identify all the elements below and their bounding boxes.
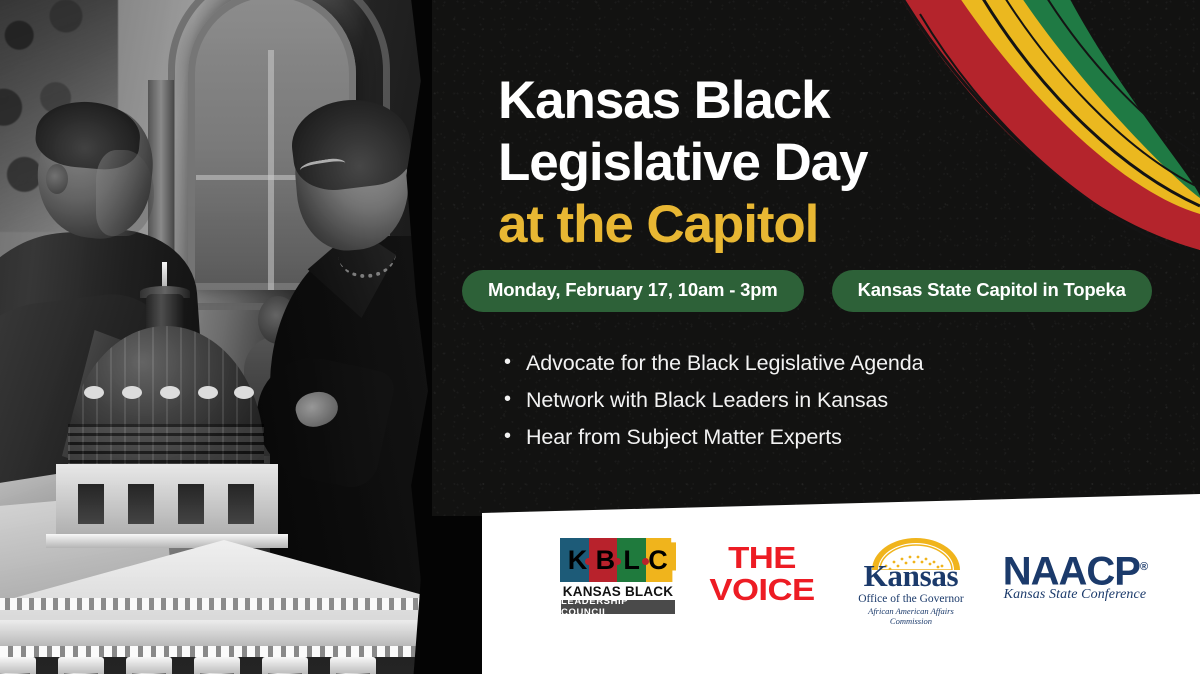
logo-kansas-office-of-the-governor: Kansas Office of the Governor African Am…	[848, 536, 965, 618]
event-promo-poster: Kansas Black Legislative Day at the Capi…	[0, 0, 1200, 674]
dome-oculus	[122, 386, 142, 399]
headline-line-2: Legislative Day	[498, 133, 867, 192]
dome-oculus	[198, 386, 218, 399]
drum-window	[228, 484, 254, 524]
list-item: Network with Black Leaders in Kansas	[502, 382, 1142, 419]
logo-naacp: NAACP® Kansas State Conference	[999, 546, 1140, 608]
pill-date-time: Monday, February 17, 10am - 3pm	[462, 270, 804, 312]
column-capital	[330, 657, 376, 674]
kansas-commission-line: African American Affairs Commission	[848, 606, 974, 626]
dome-drum	[56, 464, 278, 542]
dome-oculus-windows	[78, 386, 254, 406]
naacp-registered-mark: ®	[1140, 561, 1147, 573]
pediment-dentil-course	[0, 598, 474, 610]
column-capital	[126, 657, 172, 674]
naacp-wordmark: NAACP®	[999, 546, 1151, 592]
kblc-letter-l: L	[623, 545, 640, 576]
dome-oculus	[84, 386, 104, 399]
entablature-dentil-course	[0, 646, 474, 657]
column-capital	[0, 657, 36, 674]
kblc-name-line-2: LEADERSHIP COUNCIL	[561, 600, 675, 614]
kblc-letter-b: B	[596, 545, 616, 576]
column-capital	[262, 657, 308, 674]
sponsor-logo-row: K B L C KANSAS BLACK LEADERSHIP COUNCIL …	[560, 533, 1140, 621]
window-mullion-vertical	[268, 50, 274, 290]
headline-accent: at the Capitol	[498, 194, 1188, 256]
poster-content: Kansas Black Legislative Day at the Capi…	[498, 0, 1188, 516]
kansas-office-line: Office of the Governor	[848, 593, 974, 605]
voice-line-1: THE	[704, 542, 820, 574]
left-person-face-highlight	[96, 150, 154, 236]
kblc-letter-c: C	[648, 545, 668, 576]
column-capital	[194, 657, 240, 674]
dome-bands	[68, 424, 264, 468]
pill-location: Kansas State Capitol in Topeka	[832, 270, 1152, 312]
capitol-photo-composite	[0, 0, 500, 674]
drum-window	[128, 484, 154, 524]
drum-cornice	[46, 534, 288, 548]
naacp-subtitle: Kansas State Conference	[999, 587, 1151, 603]
event-bullet-list: Advocate for the Black Legislative Agend…	[502, 345, 1142, 456]
drum-window	[178, 484, 204, 524]
kansas-wordmark: Kansas	[848, 558, 974, 594]
dome-oculus	[160, 386, 180, 399]
drum-window	[78, 484, 104, 524]
page-title: Kansas Black Legislative Day at the Capi…	[498, 70, 1188, 256]
headline-line-1: Kansas Black	[498, 71, 830, 130]
logo-the-voice: THE VOICE	[710, 542, 814, 612]
event-detail-pills: Monday, February 17, 10am - 3pm Kansas S…	[462, 270, 1152, 312]
list-item: Advocate for the Black Legislative Agend…	[502, 345, 1142, 382]
left-person-ear	[46, 164, 68, 194]
kblc-letter-k: K	[568, 545, 588, 576]
kblc-letters: K B L C	[560, 538, 676, 582]
voice-line-2: VOICE	[704, 574, 820, 606]
list-item: Hear from Subject Matter Experts	[502, 419, 1142, 456]
portico-colonnade	[0, 657, 474, 674]
column-capital	[58, 657, 104, 674]
logo-kblc: K B L C KANSAS BLACK LEADERSHIP COUNCIL	[560, 538, 676, 616]
dome-oculus	[234, 386, 254, 399]
